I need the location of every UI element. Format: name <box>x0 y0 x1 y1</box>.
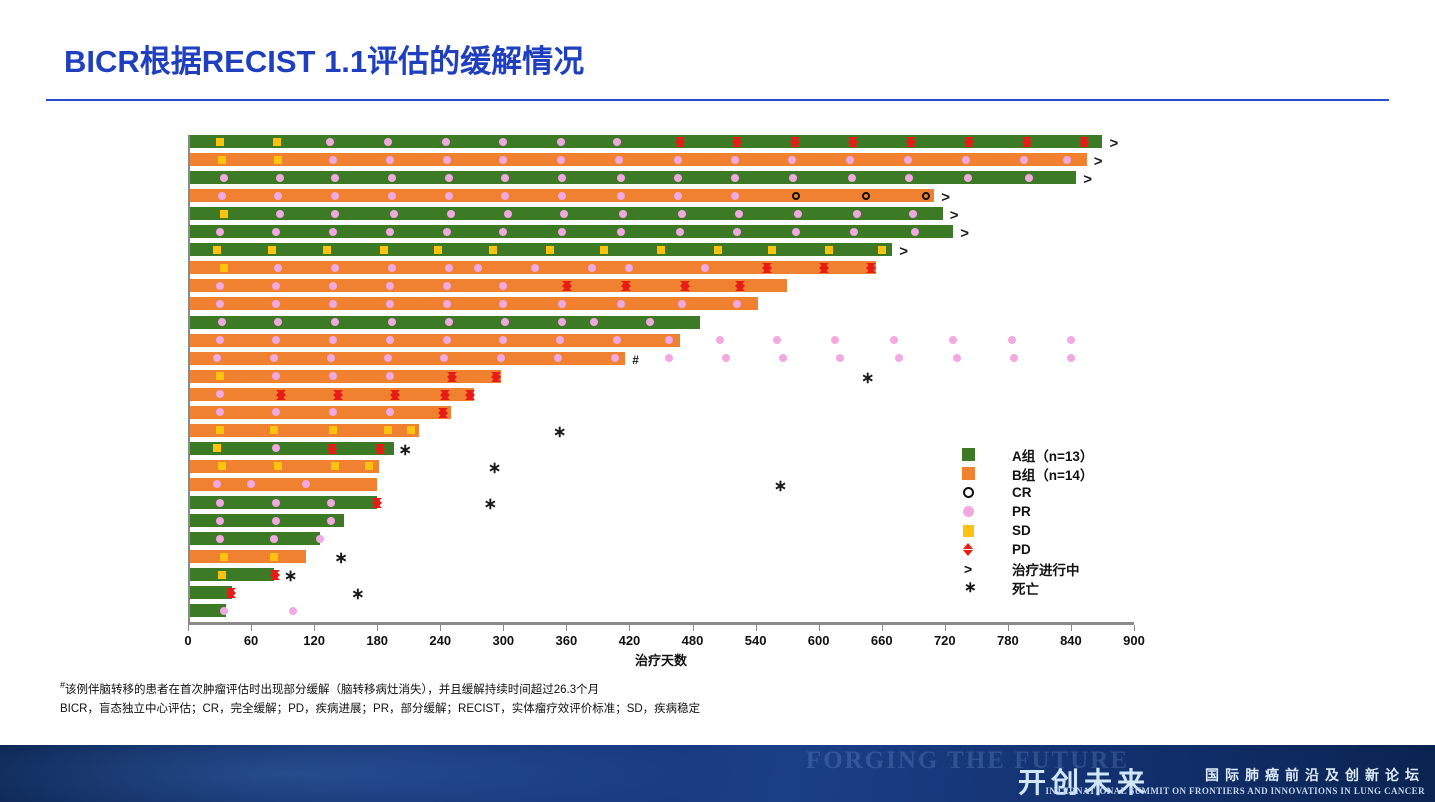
death-asterisk-icon: ∗ <box>398 443 411 459</box>
marker-pd-icon <box>270 570 280 575</box>
x-tick <box>756 625 757 631</box>
marker-sd-icon <box>714 246 722 254</box>
marker-pr-icon <box>443 156 451 164</box>
swimmer-bar[interactable] <box>188 406 451 419</box>
marker-pr-icon <box>731 192 739 200</box>
marker-pr-icon <box>674 192 682 200</box>
death-asterisk-icon: ∗ <box>774 479 787 495</box>
marker-pr-icon <box>443 336 451 344</box>
marker-pr-icon <box>289 607 297 615</box>
death-asterisk-icon: ∗ <box>964 578 977 597</box>
marker-sd-icon <box>329 426 337 434</box>
page-title: BICR根据RECIST 1.1评估的缓解情况 <box>64 36 584 81</box>
marker-sd-icon <box>489 246 497 254</box>
death-asterisk-icon: ∗ <box>351 587 364 603</box>
x-tick <box>1134 625 1135 631</box>
marker-pr-icon <box>831 336 839 344</box>
marker-pd-icon <box>790 137 800 142</box>
marker-pr-icon <box>617 174 625 182</box>
marker-pr-icon <box>216 499 224 507</box>
x-tick-label: 240 <box>429 633 451 648</box>
marker-pr-icon <box>611 354 619 362</box>
marker-pd-icon <box>562 281 572 286</box>
marker-pd-icon <box>680 281 690 286</box>
marker-pr-icon <box>1063 156 1071 164</box>
marker-pr-icon <box>329 300 337 308</box>
marker-pr-icon <box>962 156 970 164</box>
marker-sd-icon <box>384 426 392 434</box>
marker-sd-icon <box>331 462 339 470</box>
marker-pr-icon <box>848 174 856 182</box>
marker-pr-icon <box>590 318 598 326</box>
x-tick-label: 780 <box>997 633 1019 648</box>
marker-pr-icon <box>447 210 455 218</box>
marker-pr-icon <box>701 264 709 272</box>
marker-pd-icon <box>675 137 685 142</box>
marker-pd-icon <box>226 588 236 593</box>
marker-pr-icon <box>331 210 339 218</box>
marker-pd-icon <box>848 137 858 142</box>
x-tick <box>188 625 189 631</box>
ongoing-arrow-icon: > <box>1094 154 1103 169</box>
marker-pd-icon <box>372 498 382 503</box>
legend-label: PR <box>1012 504 1031 519</box>
group-a-swatch-icon <box>962 448 975 461</box>
legend-item-CR[interactable]: CR <box>957 483 1093 502</box>
marker-pr-icon <box>445 264 453 272</box>
marker-pr-icon <box>613 138 621 146</box>
swimmer-bar[interactable] <box>188 388 474 401</box>
marker-pr-icon <box>386 336 394 344</box>
marker-pr-icon <box>890 336 898 344</box>
marker-pr-icon <box>388 318 396 326</box>
death-asterisk-icon: ∗ <box>553 425 566 441</box>
cr-marker-icon <box>963 487 974 498</box>
marker-sd-icon <box>273 138 281 146</box>
x-tick-label: 300 <box>492 633 514 648</box>
marker-sd-icon <box>218 156 226 164</box>
x-tick-label: 420 <box>619 633 641 648</box>
x-tick <box>1071 625 1072 631</box>
marker-sd-icon <box>407 426 415 434</box>
marker-pr-icon <box>615 156 623 164</box>
marker-pr-icon <box>443 282 451 290</box>
legend-swatch <box>957 487 1012 498</box>
sd-marker-icon <box>963 525 974 537</box>
marker-pd-icon <box>440 390 450 395</box>
marker-pr-icon <box>731 156 739 164</box>
x-tick-label: 540 <box>745 633 767 648</box>
marker-pr-icon <box>329 228 337 236</box>
x-axis-title: 治疗天数 <box>188 650 1134 669</box>
marker-pd-icon <box>819 263 829 268</box>
marker-pr-icon <box>216 228 224 236</box>
marker-pr-icon <box>531 264 539 272</box>
ongoing-arrow-icon: > <box>941 190 950 205</box>
marker-pr-icon <box>1067 354 1075 362</box>
marker-pr-icon <box>678 300 686 308</box>
marker-sd-icon <box>213 444 221 452</box>
pd-marker-icon <box>963 543 974 556</box>
x-tick <box>251 625 252 631</box>
marker-sd-icon <box>216 138 224 146</box>
marker-pd-icon <box>390 390 400 395</box>
title-divider <box>46 99 1389 101</box>
marker-pr-icon <box>272 517 280 525</box>
x-tick-label: 60 <box>244 633 258 648</box>
legend-swatch <box>957 448 1012 461</box>
marker-pd-icon <box>438 408 448 413</box>
marker-sd-icon <box>220 553 228 561</box>
marker-pr-icon <box>588 264 596 272</box>
marker-pr-icon <box>272 228 280 236</box>
swimmer-bar[interactable] <box>188 225 953 238</box>
marker-pr-icon <box>272 499 280 507</box>
marker-pr-icon <box>270 535 278 543</box>
marker-sd-icon <box>274 156 282 164</box>
marker-pr-icon <box>443 228 451 236</box>
marker-pr-icon <box>964 174 972 182</box>
legend-label: 治疗进行中 <box>1012 559 1080 579</box>
marker-pr-icon <box>619 210 627 218</box>
x-axis-line <box>188 622 1134 625</box>
x-tick-label: 720 <box>934 633 956 648</box>
marker-pd-icon <box>447 372 457 377</box>
marker-pr-icon <box>384 138 392 146</box>
marker-pr-icon <box>558 228 566 236</box>
legend-swatch <box>957 506 1012 517</box>
swimmer-bar[interactable] <box>188 316 700 329</box>
x-tick <box>314 625 315 631</box>
marker-pr-icon <box>846 156 854 164</box>
legend-item-group-b[interactable]: B组（n=14） <box>957 464 1093 483</box>
marker-pr-icon <box>788 156 796 164</box>
death-asterisk-icon: ∗ <box>861 371 874 387</box>
legend-item-PD[interactable]: PD <box>957 540 1093 559</box>
x-tick <box>882 625 883 631</box>
legend-item-group-a[interactable]: A组（n=13） <box>957 445 1093 464</box>
marker-pr-icon <box>442 138 450 146</box>
marker-pr-icon <box>733 228 741 236</box>
marker-sd-icon <box>218 462 226 470</box>
legend-label: PD <box>1012 542 1031 557</box>
marker-pr-icon <box>388 264 396 272</box>
marker-pr-icon <box>327 354 335 362</box>
marker-pr-icon <box>443 300 451 308</box>
legend-item-PR[interactable]: PR <box>957 502 1093 521</box>
footnote-line-1: #该例伴脑转移的患者在首次肿瘤评估时出现部分缓解（脑转移病灶消失），并且缓解持续… <box>60 678 700 700</box>
swimmer-bar[interactable] <box>188 550 306 563</box>
marker-sd-icon <box>323 246 331 254</box>
marker-pd-icon <box>621 281 631 286</box>
marker-pr-icon <box>329 282 337 290</box>
marker-pr-icon <box>216 517 224 525</box>
marker-sd-icon <box>657 246 665 254</box>
marker-pd-icon <box>276 390 286 395</box>
marker-cr-icon <box>862 192 870 200</box>
marker-sd-icon <box>220 210 228 218</box>
marker-pr-icon <box>617 192 625 200</box>
marker-pr-icon <box>384 354 392 362</box>
marker-pd-icon <box>762 263 772 268</box>
banner-subtitle-en: INTERNATIONAL SUMMIT ON FRONTIERS AND IN… <box>1046 786 1426 796</box>
marker-pd-icon <box>964 137 974 142</box>
banner-subtitle-cn: 国际肺癌前沿及创新论坛 <box>1205 765 1425 785</box>
marker-pr-icon <box>731 174 739 182</box>
marker-sd-icon <box>213 246 221 254</box>
marker-pr-icon <box>674 156 682 164</box>
marker-pr-icon <box>794 210 802 218</box>
legend-swatch: ∗ <box>957 578 1012 597</box>
marker-sd-icon <box>878 246 886 254</box>
marker-pr-icon <box>386 156 394 164</box>
marker-sd-icon <box>546 246 554 254</box>
marker-pr-icon <box>676 228 684 236</box>
marker-sd-icon <box>216 372 224 380</box>
marker-pr-icon <box>949 336 957 344</box>
x-tick <box>629 625 630 631</box>
marker-pr-icon <box>1025 174 1033 182</box>
marker-pr-icon <box>779 354 787 362</box>
x-tick <box>945 625 946 631</box>
marker-pr-icon <box>216 336 224 344</box>
marker-sd-icon <box>270 553 278 561</box>
marker-pr-icon <box>617 300 625 308</box>
marker-pr-icon <box>909 210 917 218</box>
marker-pr-icon <box>836 354 844 362</box>
swimmer-bar[interactable] <box>188 243 892 256</box>
marker-pr-icon <box>733 300 741 308</box>
marker-pd-icon <box>1079 137 1089 142</box>
x-tick <box>1008 625 1009 631</box>
marker-pr-icon <box>474 264 482 272</box>
marker-pr-icon <box>216 390 224 398</box>
marker-pd-icon <box>465 390 475 395</box>
marker-pr-icon <box>445 318 453 326</box>
marker-pr-icon <box>735 210 743 218</box>
swimmer-bar[interactable] <box>188 334 680 347</box>
legend-item-SD[interactable]: SD <box>957 521 1093 540</box>
marker-pr-icon <box>557 138 565 146</box>
marker-pr-icon <box>722 354 730 362</box>
x-tick <box>440 625 441 631</box>
marker-sd-icon <box>268 246 276 254</box>
ongoing-arrow-icon: > <box>899 244 908 259</box>
marker-pr-icon <box>216 535 224 543</box>
legend-label: 死亡 <box>1012 578 1039 598</box>
marker-sd-icon <box>274 462 282 470</box>
marker-pr-icon <box>953 354 961 362</box>
marker-cr-icon <box>922 192 930 200</box>
swimmer-bar[interactable] <box>188 514 344 527</box>
marker-pr-icon <box>218 318 226 326</box>
ongoing-arrow-icon: > <box>1083 172 1092 187</box>
x-tick <box>377 625 378 631</box>
marker-pr-icon <box>1010 354 1018 362</box>
marker-pd-icon <box>732 137 742 142</box>
marker-pr-icon <box>331 174 339 182</box>
legend-swatch: > <box>957 561 1012 577</box>
x-tick-label: 0 <box>184 633 191 648</box>
marker-pr-icon <box>558 174 566 182</box>
x-tick <box>819 625 820 631</box>
marker-pr-icon <box>716 336 724 344</box>
ongoing-arrow-icon: > <box>960 226 969 241</box>
x-tick <box>566 625 567 631</box>
marker-pr-icon <box>386 300 394 308</box>
marker-pd-icon <box>906 137 916 142</box>
marker-pr-icon <box>390 210 398 218</box>
marker-pr-icon <box>674 174 682 182</box>
marker-pr-icon <box>220 174 228 182</box>
marker-pr-icon <box>316 535 324 543</box>
marker-pr-icon <box>904 156 912 164</box>
marker-pd-icon <box>327 444 337 449</box>
legend-label: A组（n=13） <box>1012 445 1093 465</box>
x-tick-label: 360 <box>556 633 578 648</box>
marker-pd-icon <box>491 372 501 377</box>
marker-sd-icon <box>825 246 833 254</box>
x-tick-label: 900 <box>1123 633 1145 648</box>
x-tick-label: 660 <box>871 633 893 648</box>
marker-pr-icon <box>504 210 512 218</box>
bottom-banner: FORGING THE FUTURE 开创未来 国际肺癌前沿及创新论坛 INTE… <box>0 745 1435 802</box>
marker-pr-icon <box>613 336 621 344</box>
ongoing-arrow-icon: > <box>950 208 959 223</box>
marker-pr-icon <box>386 372 394 380</box>
marker-pr-icon <box>499 156 507 164</box>
marker-pr-icon <box>388 192 396 200</box>
x-tick-label: 840 <box>1060 633 1082 648</box>
group-b-swatch-icon <box>962 467 975 480</box>
marker-pr-icon <box>665 354 673 362</box>
legend-swatch <box>957 467 1012 480</box>
legend-label: SD <box>1012 523 1031 538</box>
marker-cr-icon <box>792 192 800 200</box>
marker-pr-icon <box>220 607 228 615</box>
marker-sd-icon <box>434 246 442 254</box>
legend-swatch <box>957 525 1012 537</box>
marker-pr-icon <box>445 192 453 200</box>
marker-pr-icon <box>905 174 913 182</box>
y-axis-line <box>188 135 190 622</box>
marker-pr-icon <box>331 264 339 272</box>
x-tick-label: 180 <box>366 633 388 648</box>
marker-pr-icon <box>557 156 565 164</box>
marker-pr-icon <box>329 156 337 164</box>
legend-item-ongoing[interactable]: >治疗进行中 <box>957 559 1093 578</box>
marker-pr-icon <box>445 174 453 182</box>
marker-pr-icon <box>216 282 224 290</box>
marker-pr-icon <box>388 174 396 182</box>
x-tick-label: 600 <box>808 633 830 648</box>
marker-sd-icon <box>216 426 224 434</box>
marker-pr-icon <box>216 300 224 308</box>
footnote-1-text: 该例伴脑转移的患者在首次肿瘤评估时出现部分缓解（脑转移病灶消失），并且缓解持续时… <box>65 684 599 696</box>
marker-pd-icon <box>735 281 745 286</box>
marker-pr-icon <box>331 192 339 200</box>
death-asterisk-icon: ∗ <box>484 497 497 513</box>
footnote-hash-marker: # <box>632 354 639 366</box>
marker-pr-icon <box>895 354 903 362</box>
marker-pr-icon <box>216 408 224 416</box>
legend-label: CR <box>1012 485 1032 500</box>
legend-swatch <box>957 543 1012 556</box>
x-tick <box>503 625 504 631</box>
marker-pr-icon <box>499 138 507 146</box>
legend-label: B组（n=14） <box>1012 464 1093 484</box>
marker-pr-icon <box>773 336 781 344</box>
marker-sd-icon <box>600 246 608 254</box>
ongoing-arrow-icon: > <box>1109 136 1118 151</box>
marker-pr-icon <box>558 192 566 200</box>
marker-pr-icon <box>792 228 800 236</box>
marker-pr-icon <box>1020 156 1028 164</box>
marker-pr-icon <box>853 210 861 218</box>
marker-pr-icon <box>1008 336 1016 344</box>
marker-pr-icon <box>218 192 226 200</box>
swimmer-bar[interactable] <box>188 532 320 545</box>
marker-sd-icon <box>768 246 776 254</box>
marker-pr-icon <box>678 210 686 218</box>
legend-item-death[interactable]: ∗死亡 <box>957 578 1093 597</box>
x-tick-label: 480 <box>682 633 704 648</box>
marker-pr-icon <box>327 517 335 525</box>
marker-pr-icon <box>386 228 394 236</box>
ongoing-arrow-icon: > <box>964 561 972 577</box>
marker-sd-icon <box>270 426 278 434</box>
chart-legend: A组（n=13）B组（n=14）CRPRSDPD>治疗进行中∗死亡 <box>957 445 1093 597</box>
marker-pd-icon <box>866 263 876 268</box>
marker-pr-icon <box>617 228 625 236</box>
swimmer-bar[interactable] <box>188 171 1076 184</box>
marker-pd-icon <box>375 444 385 449</box>
marker-pr-icon <box>326 138 334 146</box>
marker-sd-icon <box>380 246 388 254</box>
marker-pr-icon <box>386 282 394 290</box>
x-tick-label: 120 <box>303 633 325 648</box>
x-tick <box>693 625 694 631</box>
marker-sd-icon <box>220 264 228 272</box>
pr-marker-icon <box>963 506 974 517</box>
marker-sd-icon <box>218 571 226 579</box>
marker-pr-icon <box>327 499 335 507</box>
footnote-line-2: BICR，盲态独立中心评估；CR，完全缓解；PD，疾病进展；PR，部分缓解；RE… <box>60 700 700 719</box>
death-asterisk-icon: ∗ <box>334 551 347 567</box>
marker-pr-icon <box>1067 336 1075 344</box>
marker-pd-icon <box>1022 137 1032 142</box>
death-asterisk-icon: ∗ <box>488 461 501 477</box>
marker-sd-icon <box>365 462 373 470</box>
swimmer-bar[interactable] <box>188 568 274 581</box>
footnotes: #该例伴脑转移的患者在首次肿瘤评估时出现部分缓解（脑转移病灶消失），并且缓解持续… <box>60 678 700 719</box>
marker-pr-icon <box>560 210 568 218</box>
marker-pd-icon <box>333 390 343 395</box>
swimmer-bar[interactable] <box>188 153 1087 166</box>
death-asterisk-icon: ∗ <box>284 569 297 585</box>
